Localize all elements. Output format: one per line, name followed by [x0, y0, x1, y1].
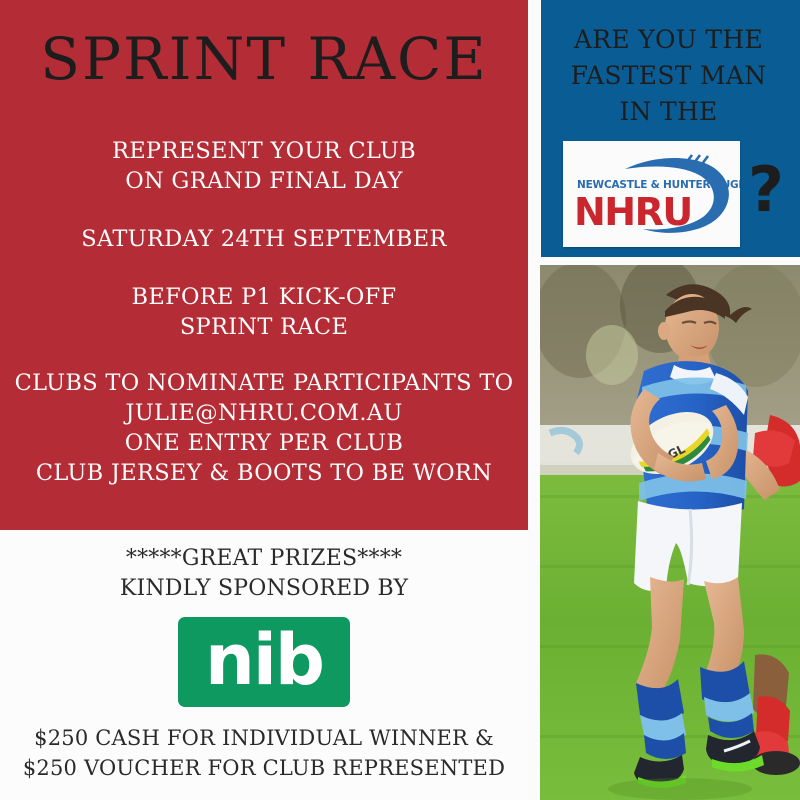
red-info-panel: SPRINT RACE REPRESENT YOUR CLUB ON GRAND…	[0, 0, 528, 530]
blue-question-panel: ARE YOU THE FASTEST MAN IN THE NEWCASTLE…	[541, 0, 800, 257]
page-title: SPRINT RACE	[0, 30, 528, 88]
detail-line-nominate: CLUBS TO NOMINATE PARTICIPANTS TO	[0, 368, 528, 398]
sponsor-intro-text: KINDLY SPONSORED BY	[0, 574, 528, 604]
question-headline: ARE YOU THE FASTEST MAN IN THE	[551, 22, 786, 130]
rugby-photo-illustration: GL	[540, 265, 800, 800]
spacer-1	[0, 196, 528, 224]
detail-line-kickoff: BEFORE P1 KICK-OFF	[0, 282, 528, 312]
prize-banner-text: *****GREAT PRIZES****	[0, 544, 528, 574]
detail-line-one-entry: ONE ENTRY PER CLUB	[0, 428, 528, 458]
question-line-1: ARE YOU THE	[551, 22, 786, 58]
detail-line-email: JULIE@NHRU.COM.AU	[0, 398, 528, 428]
detail-line-jersey-boots: CLUB JERSEY & BOOTS TO BE WORN	[0, 458, 528, 488]
spacer-3	[0, 342, 528, 368]
prize-details: $250 CASH FOR INDIVIDUAL WINNER & $250 V…	[0, 723, 528, 783]
nib-sponsor-logo: nib	[178, 617, 350, 707]
prize-panel: *****GREAT PRIZES**** KINDLY SPONSORED B…	[0, 530, 528, 800]
nib-logo-wordmark: nib	[205, 625, 323, 695]
prize-heading: *****GREAT PRIZES**** KINDLY SPONSORED B…	[0, 544, 528, 604]
svg-text:NHRU: NHRU	[574, 190, 692, 234]
event-details: REPRESENT YOUR CLUB ON GRAND FINAL DAY S…	[0, 136, 528, 488]
nhru-logo-graphic: NEWCASTLE & HUNTER RUGBY NHRU	[563, 141, 740, 247]
detail-line-represent-club: REPRESENT YOUR CLUB	[0, 136, 528, 166]
detail-line-sprint-race: SPRINT RACE	[0, 312, 528, 342]
detail-line-grand-final-day: ON GRAND FINAL DAY	[0, 166, 528, 196]
poster: SPRINT RACE REPRESENT YOUR CLUB ON GRAND…	[0, 0, 800, 800]
rugby-player-photo: GL	[540, 265, 800, 800]
spacer-2	[0, 254, 528, 282]
detail-line-date: SATURDAY 24TH SEPTEMBER	[0, 224, 528, 254]
question-line-3: IN THE	[551, 94, 786, 130]
nhru-logo-row: NEWCASTLE & HUNTER RUGBY NHRU NEWCASTLE …	[541, 141, 800, 249]
prize-cash-line: $250 CASH FOR INDIVIDUAL WINNER &	[0, 723, 528, 753]
prize-voucher-line: $250 VOUCHER FOR CLUB REPRESENTED	[0, 753, 528, 783]
question-mark-glyph: ?	[748, 159, 784, 221]
question-line-2: FASTEST MAN	[551, 58, 786, 94]
nhru-logo: NEWCASTLE & HUNTER RUGBY NHRU NEWCASTLE …	[563, 141, 740, 247]
